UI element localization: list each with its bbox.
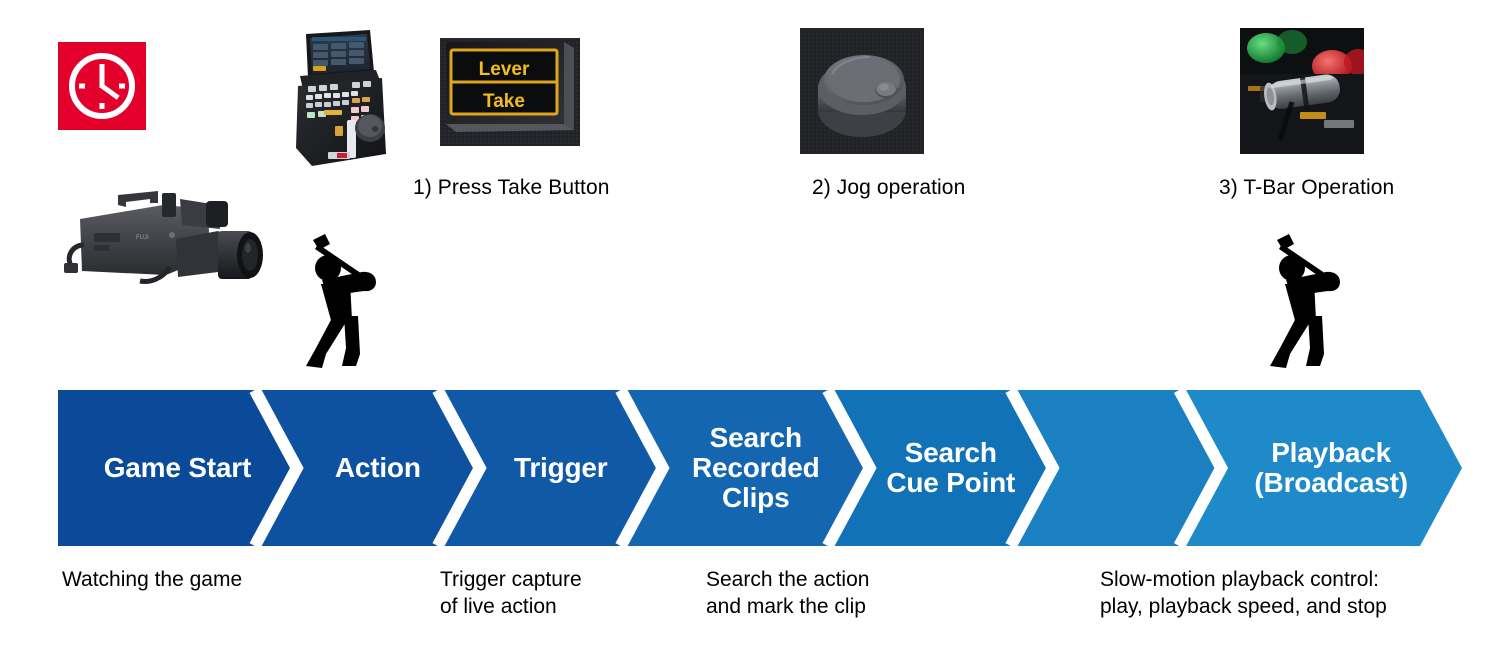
lever-take-button-photo: Lever Take: [440, 38, 580, 146]
desc-trigger-capture: Trigger capture of live action: [440, 566, 582, 620]
replay-controller-photo: [290, 28, 390, 168]
t-bar-photo: [1240, 28, 1364, 154]
clock-badge: [58, 42, 146, 130]
jog-wheel-photo: [800, 28, 924, 154]
step-caption-3: 3) T-Bar Operation: [1219, 176, 1394, 200]
golfer-silhouette: [292, 228, 388, 373]
svg-text:FUJI: FUJI: [136, 235, 149, 241]
diagram-canvas: FUJI: [0, 0, 1500, 667]
desc-search-and-mark: Search the action and mark the clip: [706, 566, 869, 620]
lever-display-line1: Lever: [479, 59, 530, 80]
studio-camera-photo: FUJI: [58, 183, 273, 288]
step-caption-1: 1) Press Take Button: [413, 176, 610, 200]
process-flow-banner: Game StartActionTriggerSearch Recorded C…: [58, 390, 1462, 546]
desc-slow-motion-control: Slow-motion playback control: play, play…: [1100, 566, 1387, 620]
desc-watching-the-game: Watching the game: [62, 566, 242, 593]
chevron-shapes: [58, 390, 1462, 546]
clock-icon: [58, 42, 146, 130]
step-caption-2: 2) Jog operation: [812, 176, 965, 200]
golfer-silhouette: [1256, 228, 1352, 373]
lever-display-line2: Take: [483, 91, 525, 112]
